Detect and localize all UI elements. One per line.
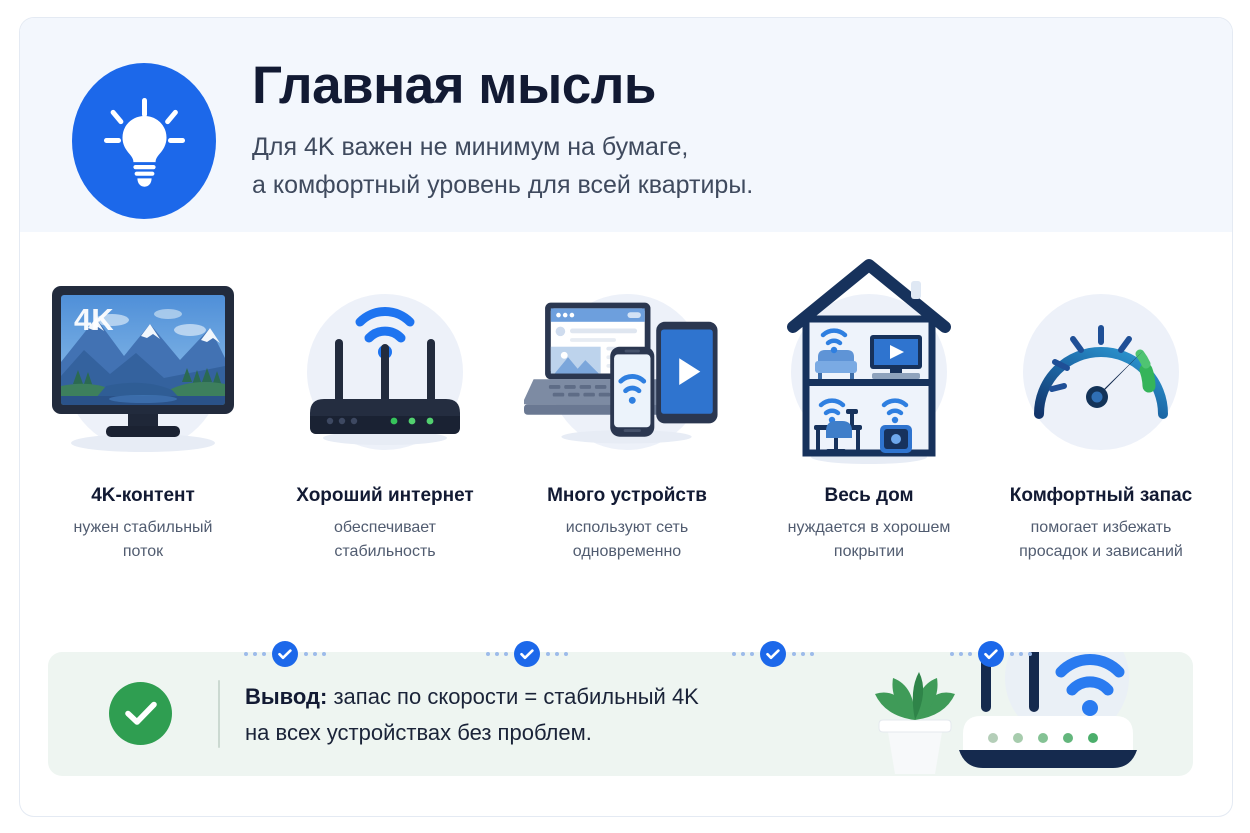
header-subtitle: Для 4K важен не минимум на бумаге, а ком… <box>252 128 1192 204</box>
step-comfort-margin: Комфортный запас помогает избежать проса… <box>998 250 1204 564</box>
dots-right <box>304 652 326 656</box>
step-title: Хороший интернет <box>282 485 488 508</box>
step-desc-line1: нуждается в хорошем <box>788 519 951 536</box>
connector-1 <box>244 641 326 667</box>
speedometer-icon <box>998 250 1204 475</box>
check-glyph <box>520 649 534 660</box>
step-title: Комфортный запас <box>998 485 1204 508</box>
header-subtitle-line1: Для 4K важен не минимум на бумаге, <box>252 133 688 161</box>
conclusion-divider <box>218 680 220 748</box>
dots-right <box>1010 652 1032 656</box>
conclusion-line2: на всех устройствах без проблем. <box>245 720 592 745</box>
router-glyph <box>282 258 488 468</box>
lightbulb-badge <box>68 54 220 228</box>
step-4k-content: 4K 4K-контент нужен стабильный поток <box>40 250 246 564</box>
step-desc-line2: поток <box>123 543 163 560</box>
step-title: 4K-контент <box>40 485 246 508</box>
check-circle-icon <box>978 641 1004 667</box>
step-desc-line2: стабильность <box>334 543 435 560</box>
header-band: Главная мысль Для 4K важен не минимум на… <box>20 18 1232 232</box>
step-desc: обеспечивает стабильность <box>282 516 488 565</box>
step-desc-line1: нужен стабильный <box>74 519 213 536</box>
tv-4k-label: 4K <box>74 302 114 337</box>
check-circle-green-icon <box>109 682 172 745</box>
connector-2 <box>486 641 568 667</box>
dots-right <box>792 652 814 656</box>
conclusion-banner: Вывод: запас по скорости = стабильный 4K… <box>48 652 1193 776</box>
router-plant-wifi-icon <box>853 652 1183 776</box>
step-desc-line1: помогает избежать <box>1031 519 1172 536</box>
dots-left <box>950 652 972 656</box>
step-good-internet: Хороший интернет обеспечивает стабильнос… <box>282 250 488 564</box>
step-title: Много устройств <box>524 485 730 508</box>
conclusion-text: Вывод: запас по скорости = стабильный 4K… <box>245 679 825 750</box>
dots-left <box>732 652 754 656</box>
conclusion-art-glyph <box>853 652 1183 776</box>
check-circle-icon <box>760 641 786 667</box>
step-desc-line1: используют сеть <box>566 519 688 536</box>
step-whole-home: Весь дом нуждается в хорошем покрытии <box>766 250 972 564</box>
header-text-block: Главная мысль Для 4K важен не минимум на… <box>252 58 1192 204</box>
step-desc-line2: одновременно <box>573 543 681 560</box>
gauge-glyph <box>998 258 1204 468</box>
conclusion-label: Вывод: <box>245 684 327 709</box>
lightbulb-icon <box>72 63 216 219</box>
tv-4k-icon: 4K <box>40 250 246 475</box>
connector-4 <box>950 641 1032 667</box>
dots-left <box>486 652 508 656</box>
check-glyph <box>766 649 780 660</box>
check-glyph <box>278 649 292 660</box>
step-desc: нужен стабильный поток <box>40 516 246 565</box>
check-circle-icon <box>514 641 540 667</box>
infographic-card: Главная мысль Для 4K важен не минимум на… <box>20 18 1232 816</box>
multi-devices-icon <box>524 250 730 475</box>
step-many-devices: Много устройств используют сеть одноврем… <box>524 250 730 564</box>
house-coverage-icon <box>766 250 972 475</box>
check-circle-icon <box>272 641 298 667</box>
page-title: Главная мысль <box>252 58 1192 114</box>
infographic-page: Главная мысль Для 4K важен не минимум на… <box>0 0 1250 833</box>
step-title: Весь дом <box>766 485 972 508</box>
lightbulb-glyph <box>101 94 187 188</box>
connector-3 <box>732 641 814 667</box>
wifi-router-icon <box>282 250 488 475</box>
step-desc: используют сеть одновременно <box>524 516 730 565</box>
step-desc-line2: просадок и зависаний <box>1019 543 1183 560</box>
conclusion-line1: запас по скорости = стабильный 4K <box>327 684 699 709</box>
step-desc-line1: обеспечивает <box>334 519 436 536</box>
dots-right <box>546 652 568 656</box>
step-desc: нуждается в хорошем покрытии <box>766 516 972 565</box>
steps-row: 4K 4K-контент нужен стабильный поток <box>20 250 1232 630</box>
step-desc-line2: покрытии <box>834 543 904 560</box>
devices-glyph <box>524 258 730 468</box>
check-glyph <box>984 649 998 660</box>
header-subtitle-line2: а комфортный уровень для всей квартиры. <box>252 171 753 199</box>
check-glyph <box>125 701 157 726</box>
house-glyph <box>766 253 972 473</box>
dots-left <box>244 652 266 656</box>
step-desc: помогает избежать просадок и зависаний <box>998 516 1204 565</box>
tv-glyph: 4K <box>40 258 246 468</box>
